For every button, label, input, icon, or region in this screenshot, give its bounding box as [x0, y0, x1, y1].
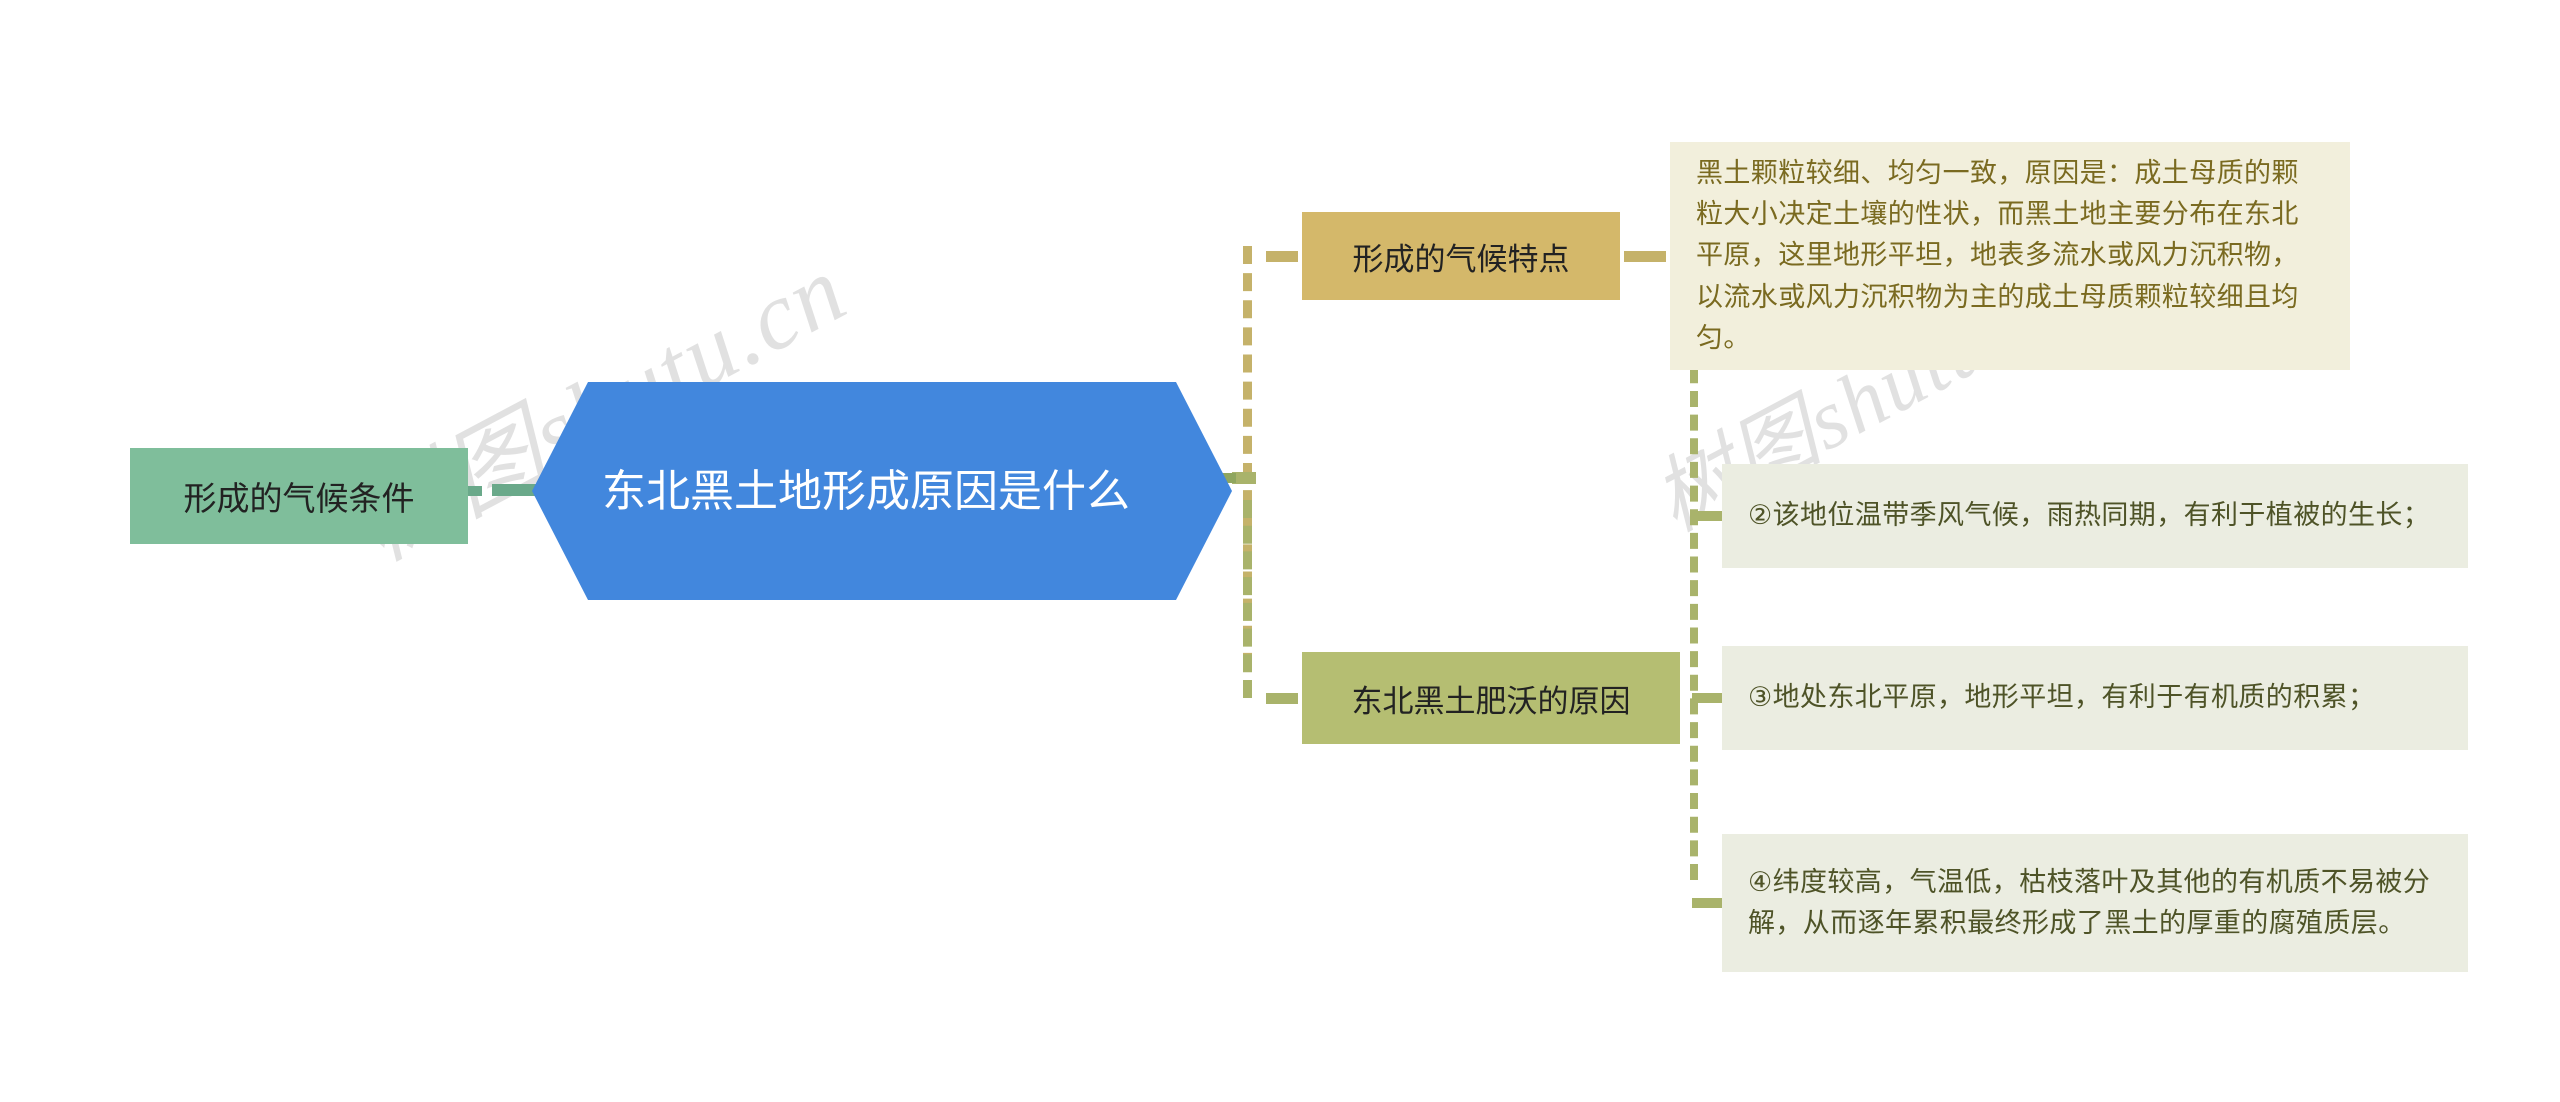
node-root-label: 东北黑土地形成原因是什么: [602, 464, 1162, 519]
connector-green-stub: [468, 486, 482, 496]
node-climate-conditions-label: 形成的气候条件: [130, 472, 468, 520]
connector-leaf-plain: [1692, 693, 1722, 703]
node-climate-features[interactable]: 形成的气候特点: [1302, 212, 1620, 300]
panel-monsoon-climate-text: ②该地位温带季风气候，雨热同期，有利于植被的生长；: [1748, 495, 2430, 536]
panel-northeast-plain[interactable]: ③地处东北平原，地形平坦，有利于有机质的积累；: [1722, 646, 2468, 750]
panel-high-latitude[interactable]: ④纬度较高，气温低，枯枝落叶及其他的有机质不易被分解，从而逐年累积最终形成了黑土…: [1722, 834, 2468, 972]
connector-leaf-latitude: [1692, 898, 1722, 908]
panel-soil-particles[interactable]: 黑土颗粒较细、均匀一致，原因是：成土母质的颗粒大小决定土壤的性状，而黑土地主要分…: [1670, 142, 2350, 370]
connector-spine-to-climate-features: [1266, 251, 1298, 262]
connector-spine-to-fertile-reasons: [1266, 693, 1298, 704]
node-fertile-reasons[interactable]: 东北黑土肥沃的原因: [1302, 652, 1680, 744]
connector-leaf-monsoon: [1692, 511, 1722, 521]
panel-soil-particles-text: 黑土颗粒较细、均匀一致，原因是：成土母质的颗粒大小决定土壤的性状，而黑土地主要分…: [1696, 153, 2324, 358]
node-climate-conditions[interactable]: 形成的气候条件: [130, 448, 468, 544]
node-fertile-reasons-label: 东北黑土肥沃的原因: [1302, 676, 1680, 721]
panel-monsoon-climate[interactable]: ②该地位温带季风气候，雨热同期，有利于植被的生长；: [1722, 464, 2468, 568]
connector-spine-leaves: [1690, 320, 1698, 880]
panel-high-latitude-text: ④纬度较高，气温低，枯枝落叶及其他的有机质不易被分解，从而逐年累积最终形成了黑土…: [1748, 862, 2442, 944]
panel-northeast-plain-text: ③地处东北平原，地形平坦，有利于有机质的积累；: [1748, 677, 2375, 718]
node-root[interactable]: 东北黑土地形成原因是什么: [532, 382, 1232, 600]
connector-climate-features-to-panel: [1624, 251, 1666, 262]
node-climate-features-label: 形成的气候特点: [1302, 234, 1620, 279]
mindmap-canvas: 树图shutu.cn 树图shutu.cn 形成的气候条件 东北黑土地形成原因是…: [0, 0, 2560, 1102]
connector-spine-right-lower: [1243, 500, 1252, 698]
